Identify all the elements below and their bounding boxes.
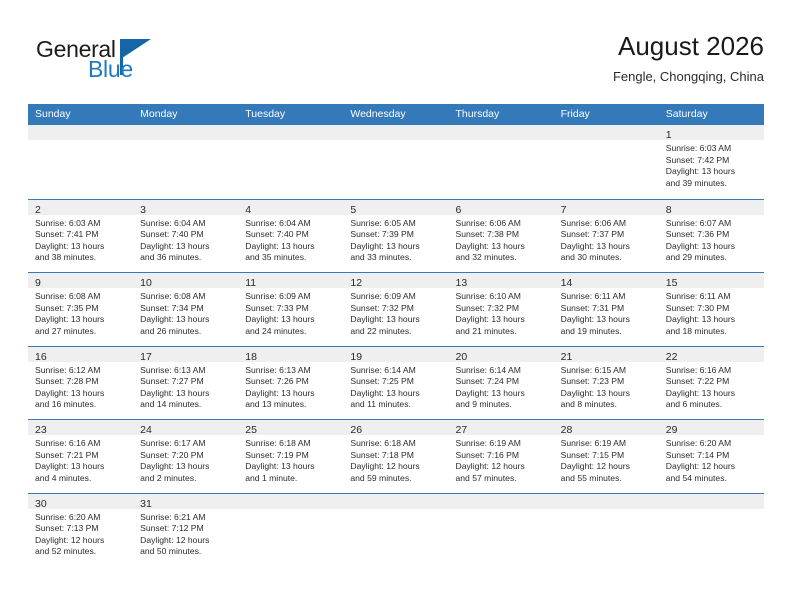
day-number-band — [343, 125, 448, 140]
day-details: Sunrise: 6:14 AMSunset: 7:25 PMDaylight:… — [343, 362, 448, 411]
day-number: 11 — [245, 277, 256, 289]
daylight-text-line1: Daylight: 13 hours — [666, 388, 758, 400]
daylight-text-line1: Daylight: 13 hours — [561, 241, 653, 253]
day-number-band: 26 — [343, 420, 448, 435]
day-details: Sunrise: 6:03 AMSunset: 7:42 PMDaylight:… — [659, 140, 764, 189]
calendar-week-row: 23Sunrise: 6:16 AMSunset: 7:21 PMDayligh… — [28, 419, 764, 493]
calendar-day-cell[interactable]: 19Sunrise: 6:14 AMSunset: 7:25 PMDayligh… — [343, 347, 448, 420]
sunset-text: Sunset: 7:40 PM — [245, 229, 337, 241]
calendar-day-cell-empty — [554, 494, 659, 567]
sunset-text: Sunset: 7:37 PM — [561, 229, 653, 241]
day-number-band: 30 — [28, 494, 133, 509]
day-details: Sunrise: 6:18 AMSunset: 7:18 PMDaylight:… — [343, 435, 448, 484]
daylight-text-line2: and 6 minutes. — [666, 399, 758, 411]
calendar-day-cell-empty — [449, 125, 554, 199]
calendar-day-cell[interactable]: 30Sunrise: 6:20 AMSunset: 7:13 PMDayligh… — [28, 494, 133, 567]
day-number: 18 — [245, 351, 257, 363]
daylight-text-line1: Daylight: 13 hours — [245, 314, 337, 326]
weekday-header-saturday: Saturday — [659, 104, 764, 125]
sunrise-text: Sunrise: 6:09 AM — [245, 291, 337, 303]
day-details: Sunrise: 6:14 AMSunset: 7:24 PMDaylight:… — [449, 362, 554, 411]
daylight-text-line2: and 13 minutes. — [245, 399, 337, 411]
daylight-text-line1: Daylight: 13 hours — [350, 314, 442, 326]
daylight-text-line2: and 27 minutes. — [35, 326, 127, 338]
daylight-text-line1: Daylight: 13 hours — [140, 461, 232, 473]
sunset-text: Sunset: 7:24 PM — [456, 376, 548, 388]
day-number: 4 — [245, 204, 251, 216]
calendar-day-cell[interactable]: 25Sunrise: 6:18 AMSunset: 7:19 PMDayligh… — [238, 420, 343, 493]
day-number-band: 13 — [449, 273, 554, 288]
day-details: Sunrise: 6:03 AMSunset: 7:41 PMDaylight:… — [28, 215, 133, 264]
day-number-band: 12 — [343, 273, 448, 288]
calendar-day-cell-empty — [238, 125, 343, 199]
page-title: August 2026 — [613, 30, 764, 62]
day-number-band: 10 — [133, 273, 238, 288]
calendar-week-row: 1Sunrise: 6:03 AMSunset: 7:42 PMDaylight… — [28, 125, 764, 199]
daylight-text-line2: and 16 minutes. — [35, 399, 127, 411]
daylight-text-line2: and 54 minutes. — [666, 473, 758, 485]
day-number-band: 29 — [659, 420, 764, 435]
calendar-day-cell[interactable]: 12Sunrise: 6:09 AMSunset: 7:32 PMDayligh… — [343, 273, 448, 346]
calendar-day-cell[interactable]: 21Sunrise: 6:15 AMSunset: 7:23 PMDayligh… — [554, 347, 659, 420]
daylight-text-line2: and 21 minutes. — [456, 326, 548, 338]
calendar-day-cell-empty — [449, 494, 554, 567]
daylight-text-line2: and 9 minutes. — [456, 399, 548, 411]
day-number: 16 — [35, 351, 47, 363]
calendar-page: General Blue August 2026 Fengle, Chongqi… — [0, 0, 792, 612]
day-number-band: 1 — [659, 125, 764, 140]
day-number: 28 — [561, 424, 573, 436]
calendar-day-cell[interactable]: 11Sunrise: 6:09 AMSunset: 7:33 PMDayligh… — [238, 273, 343, 346]
daylight-text-line2: and 1 minute. — [245, 473, 337, 485]
sunrise-text: Sunrise: 6:04 AM — [140, 218, 232, 230]
day-number: 26 — [350, 424, 362, 436]
day-number: 8 — [666, 204, 672, 216]
day-details: Sunrise: 6:06 AMSunset: 7:38 PMDaylight:… — [449, 215, 554, 264]
day-details: Sunrise: 6:04 AMSunset: 7:40 PMDaylight:… — [133, 215, 238, 264]
sunset-text: Sunset: 7:22 PM — [666, 376, 758, 388]
daylight-text-line2: and 24 minutes. — [245, 326, 337, 338]
day-details: Sunrise: 6:06 AMSunset: 7:37 PMDaylight:… — [554, 215, 659, 264]
calendar-day-cell[interactable]: 31Sunrise: 6:21 AMSunset: 7:12 PMDayligh… — [133, 494, 238, 567]
day-number-band — [659, 494, 764, 509]
sunset-text: Sunset: 7:33 PM — [245, 303, 337, 315]
day-number-band — [449, 125, 554, 140]
daylight-text-line1: Daylight: 13 hours — [140, 314, 232, 326]
day-details: Sunrise: 6:21 AMSunset: 7:12 PMDaylight:… — [133, 509, 238, 558]
daylight-text-line2: and 11 minutes. — [350, 399, 442, 411]
day-details: Sunrise: 6:19 AMSunset: 7:16 PMDaylight:… — [449, 435, 554, 484]
day-number: 27 — [456, 424, 468, 436]
weekday-header-thursday: Thursday — [449, 104, 554, 125]
sunrise-text: Sunrise: 6:05 AM — [350, 218, 442, 230]
sunrise-text: Sunrise: 6:03 AM — [666, 143, 758, 155]
day-details: Sunrise: 6:12 AMSunset: 7:28 PMDaylight:… — [28, 362, 133, 411]
day-number: 14 — [561, 277, 573, 289]
sunset-text: Sunset: 7:36 PM — [666, 229, 758, 241]
weekday-header-tuesday: Tuesday — [238, 104, 343, 125]
day-number-band: 4 — [238, 200, 343, 215]
day-number-band: 6 — [449, 200, 554, 215]
sunset-text: Sunset: 7:20 PM — [140, 450, 232, 462]
sunset-text: Sunset: 7:27 PM — [140, 376, 232, 388]
sunrise-text: Sunrise: 6:06 AM — [561, 218, 653, 230]
calendar-day-cell[interactable]: 26Sunrise: 6:18 AMSunset: 7:18 PMDayligh… — [343, 420, 448, 493]
day-details: Sunrise: 6:17 AMSunset: 7:20 PMDaylight:… — [133, 435, 238, 484]
day-number: 23 — [35, 424, 47, 436]
day-number: 9 — [35, 277, 41, 289]
day-number-band — [449, 494, 554, 509]
sunset-text: Sunset: 7:25 PM — [350, 376, 442, 388]
daylight-text-line1: Daylight: 12 hours — [140, 535, 232, 547]
calendar-day-cell[interactable]: 22Sunrise: 6:16 AMSunset: 7:22 PMDayligh… — [659, 347, 764, 420]
sunrise-text: Sunrise: 6:16 AM — [35, 438, 127, 450]
day-details: Sunrise: 6:08 AMSunset: 7:35 PMDaylight:… — [28, 288, 133, 337]
calendar-day-cell[interactable]: 3Sunrise: 6:04 AMSunset: 7:40 PMDaylight… — [133, 200, 238, 273]
day-number: 21 — [561, 351, 573, 363]
sunset-text: Sunset: 7:26 PM — [245, 376, 337, 388]
day-number: 29 — [666, 424, 678, 436]
calendar-day-cell[interactable]: 27Sunrise: 6:19 AMSunset: 7:16 PMDayligh… — [449, 420, 554, 493]
sunrise-text: Sunrise: 6:14 AM — [456, 365, 548, 377]
calendar-day-cell-empty — [343, 125, 448, 199]
day-details: Sunrise: 6:08 AMSunset: 7:34 PMDaylight:… — [133, 288, 238, 337]
sunrise-text: Sunrise: 6:10 AM — [456, 291, 548, 303]
day-details: Sunrise: 6:13 AMSunset: 7:27 PMDaylight:… — [133, 362, 238, 411]
calendar-day-cell-empty — [28, 125, 133, 199]
day-details: Sunrise: 6:15 AMSunset: 7:23 PMDaylight:… — [554, 362, 659, 411]
daylight-text-line1: Daylight: 13 hours — [666, 241, 758, 253]
calendar-week-row: 30Sunrise: 6:20 AMSunset: 7:13 PMDayligh… — [28, 493, 764, 567]
day-number-band: 31 — [133, 494, 238, 509]
logo-text-blue: Blue — [88, 56, 133, 83]
calendar-day-cell-empty — [554, 125, 659, 199]
daylight-text-line1: Daylight: 12 hours — [350, 461, 442, 473]
calendar-day-cell[interactable]: 13Sunrise: 6:10 AMSunset: 7:32 PMDayligh… — [449, 273, 554, 346]
daylight-text-line1: Daylight: 12 hours — [561, 461, 653, 473]
day-number: 24 — [140, 424, 152, 436]
day-number-band: 19 — [343, 347, 448, 362]
calendar-day-cell[interactable]: 15Sunrise: 6:11 AMSunset: 7:30 PMDayligh… — [659, 273, 764, 346]
calendar-day-cell[interactable]: 29Sunrise: 6:20 AMSunset: 7:14 PMDayligh… — [659, 420, 764, 493]
calendar-grid: Sunday Monday Tuesday Wednesday Thursday… — [28, 104, 764, 566]
calendar-day-cell[interactable]: 6Sunrise: 6:06 AMSunset: 7:38 PMDaylight… — [449, 200, 554, 273]
sunset-text: Sunset: 7:16 PM — [456, 450, 548, 462]
day-details: Sunrise: 6:16 AMSunset: 7:22 PMDaylight:… — [659, 362, 764, 411]
day-number: 17 — [140, 351, 152, 363]
day-number-band — [554, 125, 659, 140]
daylight-text-line2: and 8 minutes. — [561, 399, 653, 411]
daylight-text-line2: and 18 minutes. — [666, 326, 758, 338]
daylight-text-line2: and 14 minutes. — [140, 399, 232, 411]
day-details: Sunrise: 6:20 AMSunset: 7:13 PMDaylight:… — [28, 509, 133, 558]
daylight-text-line2: and 57 minutes. — [456, 473, 548, 485]
day-number-band — [28, 125, 133, 140]
day-number-band: 16 — [28, 347, 133, 362]
daylight-text-line2: and 4 minutes. — [35, 473, 127, 485]
sunset-text: Sunset: 7:41 PM — [35, 229, 127, 241]
day-number: 12 — [350, 277, 362, 289]
day-number-band — [238, 494, 343, 509]
day-number-band: 9 — [28, 273, 133, 288]
sunset-text: Sunset: 7:31 PM — [561, 303, 653, 315]
sunset-text: Sunset: 7:35 PM — [35, 303, 127, 315]
daylight-text-line2: and 55 minutes. — [561, 473, 653, 485]
sunset-text: Sunset: 7:42 PM — [666, 155, 758, 167]
sunset-text: Sunset: 7:38 PM — [456, 229, 548, 241]
day-number-band: 8 — [659, 200, 764, 215]
sunrise-text: Sunrise: 6:11 AM — [666, 291, 758, 303]
daylight-text-line1: Daylight: 13 hours — [35, 314, 127, 326]
day-number: 30 — [35, 498, 47, 510]
calendar-day-cell[interactable]: 8Sunrise: 6:07 AMSunset: 7:36 PMDaylight… — [659, 200, 764, 273]
sunrise-text: Sunrise: 6:19 AM — [456, 438, 548, 450]
sunset-text: Sunset: 7:18 PM — [350, 450, 442, 462]
day-number-band: 11 — [238, 273, 343, 288]
day-number-band: 23 — [28, 420, 133, 435]
calendar-day-cell[interactable]: 14Sunrise: 6:11 AMSunset: 7:31 PMDayligh… — [554, 273, 659, 346]
sunset-text: Sunset: 7:15 PM — [561, 450, 653, 462]
calendar-day-cell-empty — [343, 494, 448, 567]
calendar-day-cell-empty — [133, 125, 238, 199]
calendar-day-cell[interactable]: 4Sunrise: 6:04 AMSunset: 7:40 PMDaylight… — [238, 200, 343, 273]
daylight-text-line2: and 50 minutes. — [140, 546, 232, 558]
calendar-week-row: 9Sunrise: 6:08 AMSunset: 7:35 PMDaylight… — [28, 272, 764, 346]
calendar-day-cell[interactable]: 23Sunrise: 6:16 AMSunset: 7:21 PMDayligh… — [28, 420, 133, 493]
sunrise-text: Sunrise: 6:14 AM — [350, 365, 442, 377]
sunrise-text: Sunrise: 6:11 AM — [561, 291, 653, 303]
sunrise-text: Sunrise: 6:16 AM — [666, 365, 758, 377]
day-number: 19 — [350, 351, 362, 363]
sunset-text: Sunset: 7:21 PM — [35, 450, 127, 462]
day-number-band — [343, 494, 448, 509]
day-number: 3 — [140, 204, 146, 216]
daylight-text-line1: Daylight: 13 hours — [561, 388, 653, 400]
daylight-text-line1: Daylight: 13 hours — [350, 388, 442, 400]
daylight-text-line2: and 36 minutes. — [140, 252, 232, 264]
sunrise-text: Sunrise: 6:19 AM — [561, 438, 653, 450]
sunrise-text: Sunrise: 6:06 AM — [456, 218, 548, 230]
weekday-header-friday: Friday — [554, 104, 659, 125]
sunrise-text: Sunrise: 6:20 AM — [35, 512, 127, 524]
calendar-day-cell[interactable]: 18Sunrise: 6:13 AMSunset: 7:26 PMDayligh… — [238, 347, 343, 420]
calendar-day-cell-empty — [659, 494, 764, 567]
page-header: General Blue August 2026 Fengle, Chongqi… — [28, 30, 764, 100]
day-details: Sunrise: 6:09 AMSunset: 7:33 PMDaylight:… — [238, 288, 343, 337]
day-number-band: 20 — [449, 347, 554, 362]
daylight-text-line1: Daylight: 13 hours — [666, 314, 758, 326]
daylight-text-line1: Daylight: 12 hours — [456, 461, 548, 473]
day-details: Sunrise: 6:05 AMSunset: 7:39 PMDaylight:… — [343, 215, 448, 264]
calendar-day-cell[interactable]: 10Sunrise: 6:08 AMSunset: 7:34 PMDayligh… — [133, 273, 238, 346]
sunrise-text: Sunrise: 6:08 AM — [140, 291, 232, 303]
sunset-text: Sunset: 7:28 PM — [35, 376, 127, 388]
day-number: 13 — [456, 277, 468, 289]
daylight-text-line2: and 26 minutes. — [140, 326, 232, 338]
calendar-day-cell[interactable]: 24Sunrise: 6:17 AMSunset: 7:20 PMDayligh… — [133, 420, 238, 493]
daylight-text-line2: and 52 minutes. — [35, 546, 127, 558]
daylight-text-line1: Daylight: 13 hours — [35, 461, 127, 473]
day-number-band: 21 — [554, 347, 659, 362]
sunrise-text: Sunrise: 6:09 AM — [350, 291, 442, 303]
sunset-text: Sunset: 7:40 PM — [140, 229, 232, 241]
day-number: 22 — [666, 351, 678, 363]
general-blue-logo[interactable]: General Blue — [36, 36, 216, 92]
day-number-band: 17 — [133, 347, 238, 362]
weekday-header-wednesday: Wednesday — [343, 104, 448, 125]
sunrise-text: Sunrise: 6:18 AM — [350, 438, 442, 450]
day-details: Sunrise: 6:10 AMSunset: 7:32 PMDaylight:… — [449, 288, 554, 337]
weekday-header-sunday: Sunday — [28, 104, 133, 125]
sunrise-text: Sunrise: 6:17 AM — [140, 438, 232, 450]
daylight-text-line1: Daylight: 13 hours — [561, 314, 653, 326]
sunset-text: Sunset: 7:19 PM — [245, 450, 337, 462]
day-number-band: 28 — [554, 420, 659, 435]
calendar-day-cell[interactable]: 9Sunrise: 6:08 AMSunset: 7:35 PMDaylight… — [28, 273, 133, 346]
daylight-text-line1: Daylight: 13 hours — [456, 241, 548, 253]
weekday-header-row: Sunday Monday Tuesday Wednesday Thursday… — [28, 104, 764, 125]
daylight-text-line1: Daylight: 13 hours — [140, 241, 232, 253]
daylight-text-line2: and 39 minutes. — [666, 178, 758, 190]
daylight-text-line2: and 29 minutes. — [666, 252, 758, 264]
day-details: Sunrise: 6:20 AMSunset: 7:14 PMDaylight:… — [659, 435, 764, 484]
day-details: Sunrise: 6:11 AMSunset: 7:31 PMDaylight:… — [554, 288, 659, 337]
calendar-weeks: 1Sunrise: 6:03 AMSunset: 7:42 PMDaylight… — [28, 125, 764, 566]
day-details: Sunrise: 6:16 AMSunset: 7:21 PMDaylight:… — [28, 435, 133, 484]
day-number-band: 27 — [449, 420, 554, 435]
weekday-header-monday: Monday — [133, 104, 238, 125]
daylight-text-line1: Daylight: 12 hours — [666, 461, 758, 473]
day-number-band: 24 — [133, 420, 238, 435]
calendar-day-cell-empty — [238, 494, 343, 567]
day-number: 20 — [456, 351, 468, 363]
day-number-band: 25 — [238, 420, 343, 435]
day-number: 25 — [245, 424, 257, 436]
sunset-text: Sunset: 7:30 PM — [666, 303, 758, 315]
calendar-day-cell[interactable]: 17Sunrise: 6:13 AMSunset: 7:27 PMDayligh… — [133, 347, 238, 420]
daylight-text-line1: Daylight: 13 hours — [35, 388, 127, 400]
day-number: 6 — [456, 204, 462, 216]
daylight-text-line1: Daylight: 13 hours — [456, 388, 548, 400]
daylight-text-line1: Daylight: 13 hours — [456, 314, 548, 326]
day-details: Sunrise: 6:04 AMSunset: 7:40 PMDaylight:… — [238, 215, 343, 264]
sunrise-text: Sunrise: 6:21 AM — [140, 512, 232, 524]
day-number: 2 — [35, 204, 41, 216]
day-details: Sunrise: 6:07 AMSunset: 7:36 PMDaylight:… — [659, 215, 764, 264]
day-number-band — [238, 125, 343, 140]
day-number-band: 14 — [554, 273, 659, 288]
sunrise-text: Sunrise: 6:13 AM — [140, 365, 232, 377]
daylight-text-line2: and 19 minutes. — [561, 326, 653, 338]
sunset-text: Sunset: 7:39 PM — [350, 229, 442, 241]
sunrise-text: Sunrise: 6:13 AM — [245, 365, 337, 377]
daylight-text-line2: and 33 minutes. — [350, 252, 442, 264]
day-number: 5 — [350, 204, 356, 216]
daylight-text-line1: Daylight: 13 hours — [245, 388, 337, 400]
daylight-text-line2: and 35 minutes. — [245, 252, 337, 264]
day-number-band: 5 — [343, 200, 448, 215]
daylight-text-line2: and 32 minutes. — [456, 252, 548, 264]
sunset-text: Sunset: 7:23 PM — [561, 376, 653, 388]
sunset-text: Sunset: 7:12 PM — [140, 523, 232, 535]
day-number-band: 2 — [28, 200, 133, 215]
sunset-text: Sunset: 7:32 PM — [456, 303, 548, 315]
daylight-text-line1: Daylight: 12 hours — [35, 535, 127, 547]
day-details: Sunrise: 6:19 AMSunset: 7:15 PMDaylight:… — [554, 435, 659, 484]
day-number: 15 — [666, 277, 678, 289]
title-block: August 2026 Fengle, Chongqing, China — [613, 30, 764, 87]
calendar-day-cell[interactable]: 28Sunrise: 6:19 AMSunset: 7:15 PMDayligh… — [554, 420, 659, 493]
sunset-text: Sunset: 7:34 PM — [140, 303, 232, 315]
day-number: 7 — [561, 204, 567, 216]
sunrise-text: Sunrise: 6:18 AM — [245, 438, 337, 450]
calendar-day-cell[interactable]: 5Sunrise: 6:05 AMSunset: 7:39 PMDaylight… — [343, 200, 448, 273]
day-number-band: 18 — [238, 347, 343, 362]
calendar-day-cell[interactable]: 7Sunrise: 6:06 AMSunset: 7:37 PMDaylight… — [554, 200, 659, 273]
sunrise-text: Sunrise: 6:04 AM — [245, 218, 337, 230]
sunrise-text: Sunrise: 6:08 AM — [35, 291, 127, 303]
daylight-text-line1: Daylight: 13 hours — [140, 388, 232, 400]
calendar-day-cell[interactable]: 2Sunrise: 6:03 AMSunset: 7:41 PMDaylight… — [28, 200, 133, 273]
daylight-text-line2: and 30 minutes. — [561, 252, 653, 264]
day-details: Sunrise: 6:09 AMSunset: 7:32 PMDaylight:… — [343, 288, 448, 337]
day-number-band: 3 — [133, 200, 238, 215]
day-details: Sunrise: 6:11 AMSunset: 7:30 PMDaylight:… — [659, 288, 764, 337]
calendar-day-cell[interactable]: 1Sunrise: 6:03 AMSunset: 7:42 PMDaylight… — [659, 125, 764, 199]
location-subtitle: Fengle, Chongqing, China — [613, 67, 764, 87]
sunrise-text: Sunrise: 6:15 AM — [561, 365, 653, 377]
sunrise-text: Sunrise: 6:20 AM — [666, 438, 758, 450]
day-number-band: 22 — [659, 347, 764, 362]
daylight-text-line1: Daylight: 13 hours — [245, 461, 337, 473]
daylight-text-line1: Daylight: 13 hours — [35, 241, 127, 253]
calendar-week-row: 2Sunrise: 6:03 AMSunset: 7:41 PMDaylight… — [28, 199, 764, 273]
calendar-day-cell[interactable]: 20Sunrise: 6:14 AMSunset: 7:24 PMDayligh… — [449, 347, 554, 420]
day-number: 1 — [666, 129, 672, 141]
sunset-text: Sunset: 7:14 PM — [666, 450, 758, 462]
calendar-day-cell[interactable]: 16Sunrise: 6:12 AMSunset: 7:28 PMDayligh… — [28, 347, 133, 420]
daylight-text-line1: Daylight: 13 hours — [245, 241, 337, 253]
daylight-text-line2: and 38 minutes. — [35, 252, 127, 264]
sunset-text: Sunset: 7:32 PM — [350, 303, 442, 315]
day-number-band: 15 — [659, 273, 764, 288]
daylight-text-line2: and 22 minutes. — [350, 326, 442, 338]
daylight-text-line2: and 2 minutes. — [140, 473, 232, 485]
day-number-band: 7 — [554, 200, 659, 215]
day-number-band — [554, 494, 659, 509]
daylight-text-line1: Daylight: 13 hours — [666, 166, 758, 178]
day-details: Sunrise: 6:18 AMSunset: 7:19 PMDaylight:… — [238, 435, 343, 484]
daylight-text-line1: Daylight: 13 hours — [350, 241, 442, 253]
day-number-band — [133, 125, 238, 140]
day-number: 31 — [140, 498, 152, 510]
calendar-week-row: 16Sunrise: 6:12 AMSunset: 7:28 PMDayligh… — [28, 346, 764, 420]
sunset-text: Sunset: 7:13 PM — [35, 523, 127, 535]
sunrise-text: Sunrise: 6:07 AM — [666, 218, 758, 230]
sunrise-text: Sunrise: 6:03 AM — [35, 218, 127, 230]
day-number: 10 — [140, 277, 152, 289]
daylight-text-line2: and 59 minutes. — [350, 473, 442, 485]
sunrise-text: Sunrise: 6:12 AM — [35, 365, 127, 377]
day-details: Sunrise: 6:13 AMSunset: 7:26 PMDaylight:… — [238, 362, 343, 411]
